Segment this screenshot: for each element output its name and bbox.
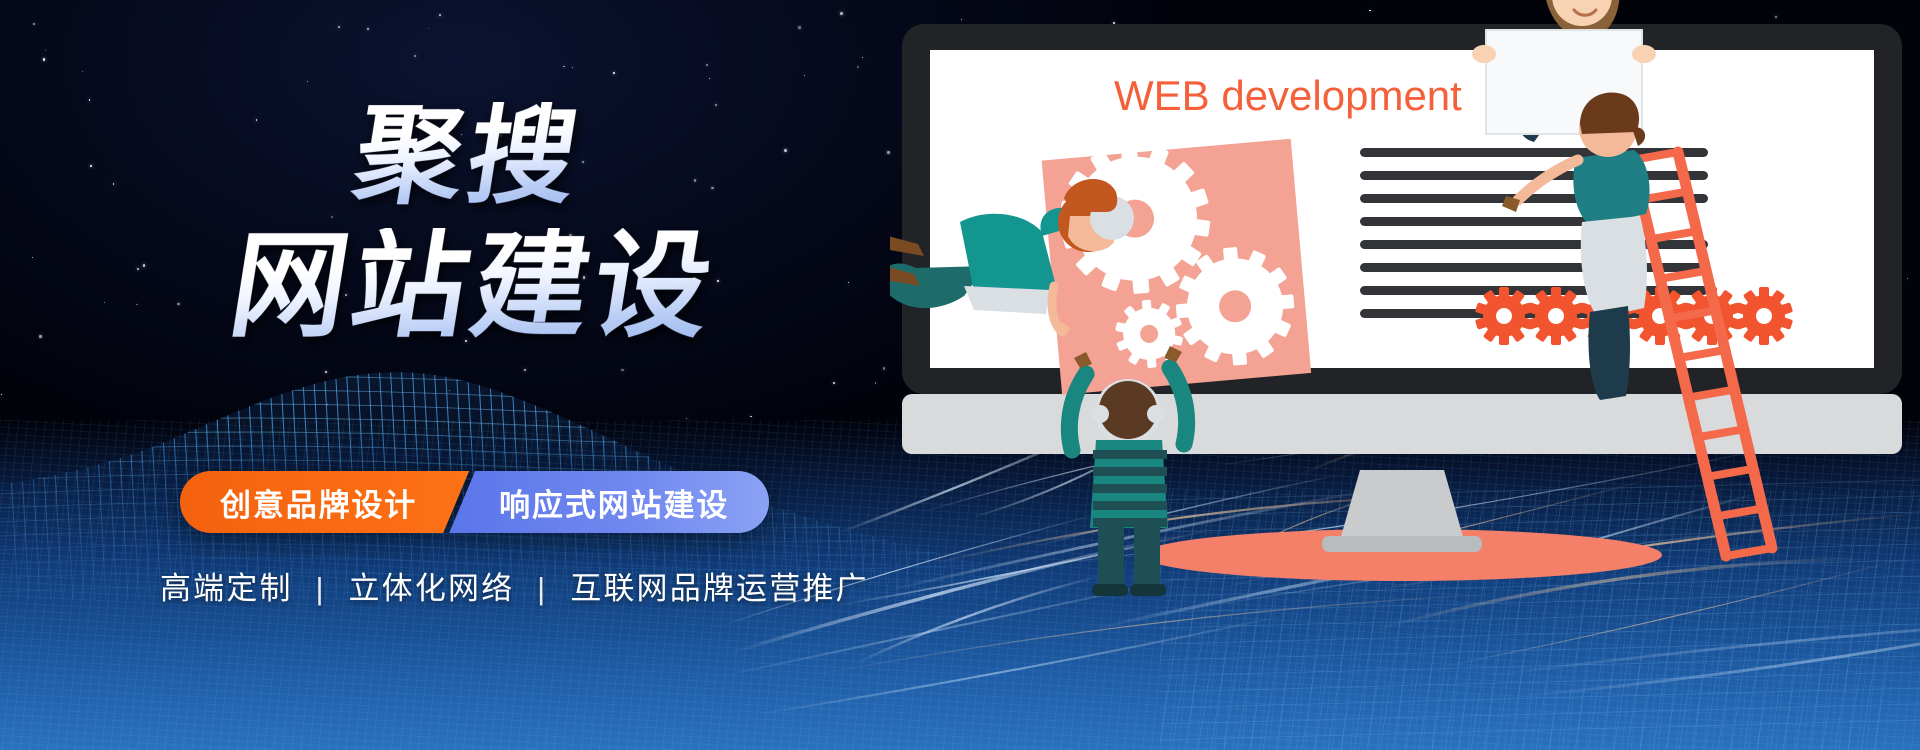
page-title: 网站建设 <box>223 228 724 344</box>
tagline-part-3: 互联网品牌运营推广 <box>570 571 869 606</box>
service-pills: 创意品牌设计 响应式网站建设 <box>180 471 769 533</box>
monitor-neck <box>1340 470 1464 540</box>
pill-creative-brand-design[interactable]: 创意品牌设计 <box>180 471 469 533</box>
pill-responsive-web-build[interactable]: 响应式网站建设 <box>449 471 769 533</box>
screen-title: WEB development <box>1114 72 1462 119</box>
tagline-separator-1: | <box>303 571 337 606</box>
hero-banner: 聚搜 网站建设 创意品牌设计 响应式网站建设 高端定制 | 立体化网络 | 互联… <box>0 0 1920 750</box>
tagline-part-1: 高端定制 <box>160 571 293 606</box>
tagline-separator-2: | <box>525 571 559 606</box>
tagline-part-2: 立体化网络 <box>349 571 515 606</box>
tagline: 高端定制 | 立体化网络 | 互联网品牌运营推广 <box>160 563 869 608</box>
headline-block: 聚搜 网站建设 创意品牌设计 响应式网站建设 高端定制 | 立体化网络 | 互联… <box>0 0 900 750</box>
brand-title: 聚搜 <box>347 102 589 210</box>
screen-text-line <box>1360 171 1708 180</box>
illustration-monitor-scene: WEB development <box>890 0 1920 750</box>
monitor-base <box>1322 536 1482 552</box>
